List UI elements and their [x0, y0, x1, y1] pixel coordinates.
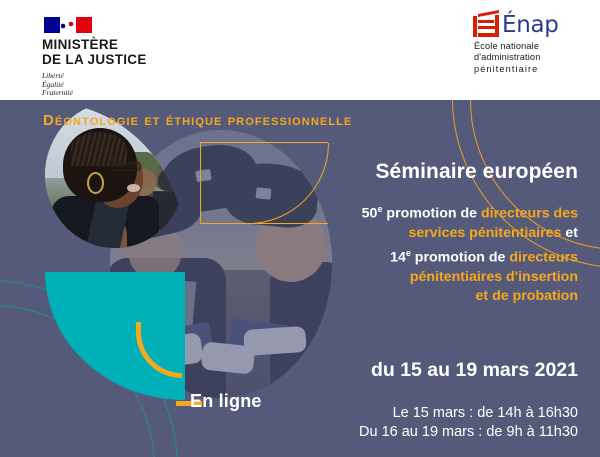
ministry-name-line2: DE LA JUSTICE	[42, 53, 172, 68]
decorative-gold-quarter-frame	[200, 142, 328, 224]
date-range: du 15 au 19 mars 2021	[316, 359, 578, 382]
online-label: En ligne	[190, 391, 262, 412]
promo1-prefix: promotion de	[382, 206, 481, 222]
image-cluster: En ligne	[0, 100, 330, 457]
promotions-block: 50e promotion de directeurs des services…	[316, 200, 578, 307]
schedule-line-1: Le 15 mars : de 14h à 16h30	[316, 404, 578, 423]
promo2-ordinal: 14	[390, 249, 406, 265]
schedule-line-2: Du 16 au 19 mars : de 9h à 11h30	[316, 423, 578, 442]
ministry-motto: Liberté Égalité Fraternité	[42, 72, 172, 98]
poster-body: Déontologie et éthique professionnelle	[0, 100, 600, 457]
enap-open-book-icon	[473, 12, 499, 37]
promo1-ordinal: 50	[362, 206, 378, 222]
poster-canvas: MINISTÈRE DE LA JUSTICE Liberté Égalité …	[0, 0, 600, 457]
schedule-block: Le 15 mars : de 14h à 16h30 Du 16 au 19 …	[316, 404, 578, 442]
ministry-name-line1: MINISTÈRE	[42, 38, 172, 53]
promo2-highlight-a: directeurs	[509, 249, 578, 265]
enap-subtitle: École nationale d'administration péniten…	[474, 41, 584, 75]
promo1-highlight-b: services pénitentiaires	[408, 225, 561, 241]
ministry-of-justice-logo: MINISTÈRE DE LA JUSTICE Liberté Égalité …	[42, 17, 172, 98]
promo1-suffix: et	[561, 225, 578, 241]
promo2-prefix: promotion de	[411, 249, 510, 265]
promo2-highlight-c: et de probation	[476, 288, 578, 304]
motto-fraternite: Fraternité	[42, 89, 172, 98]
enap-sub-line3: pénitentiaire	[474, 64, 584, 75]
header-band: MINISTÈRE DE LA JUSTICE Liberté Égalité …	[0, 0, 600, 100]
french-flag-marianne-icon	[44, 17, 92, 33]
seminar-title: Séminaire européen	[316, 160, 578, 184]
enap-logo: Énap École nationale d'administration pé…	[464, 12, 584, 75]
section-title: Déontologie et éthique professionnelle	[43, 112, 352, 129]
promo1-highlight-a: directeurs des	[481, 206, 578, 222]
promo2-highlight-b: pénitentiaires d'insertion	[410, 269, 578, 285]
text-column: Séminaire européen 50e promotion de dire…	[316, 100, 578, 442]
enap-sub-line2: d'administration	[474, 52, 584, 63]
enap-wordmark: Énap	[502, 14, 559, 37]
enap-sub-line1: École nationale	[474, 41, 584, 52]
